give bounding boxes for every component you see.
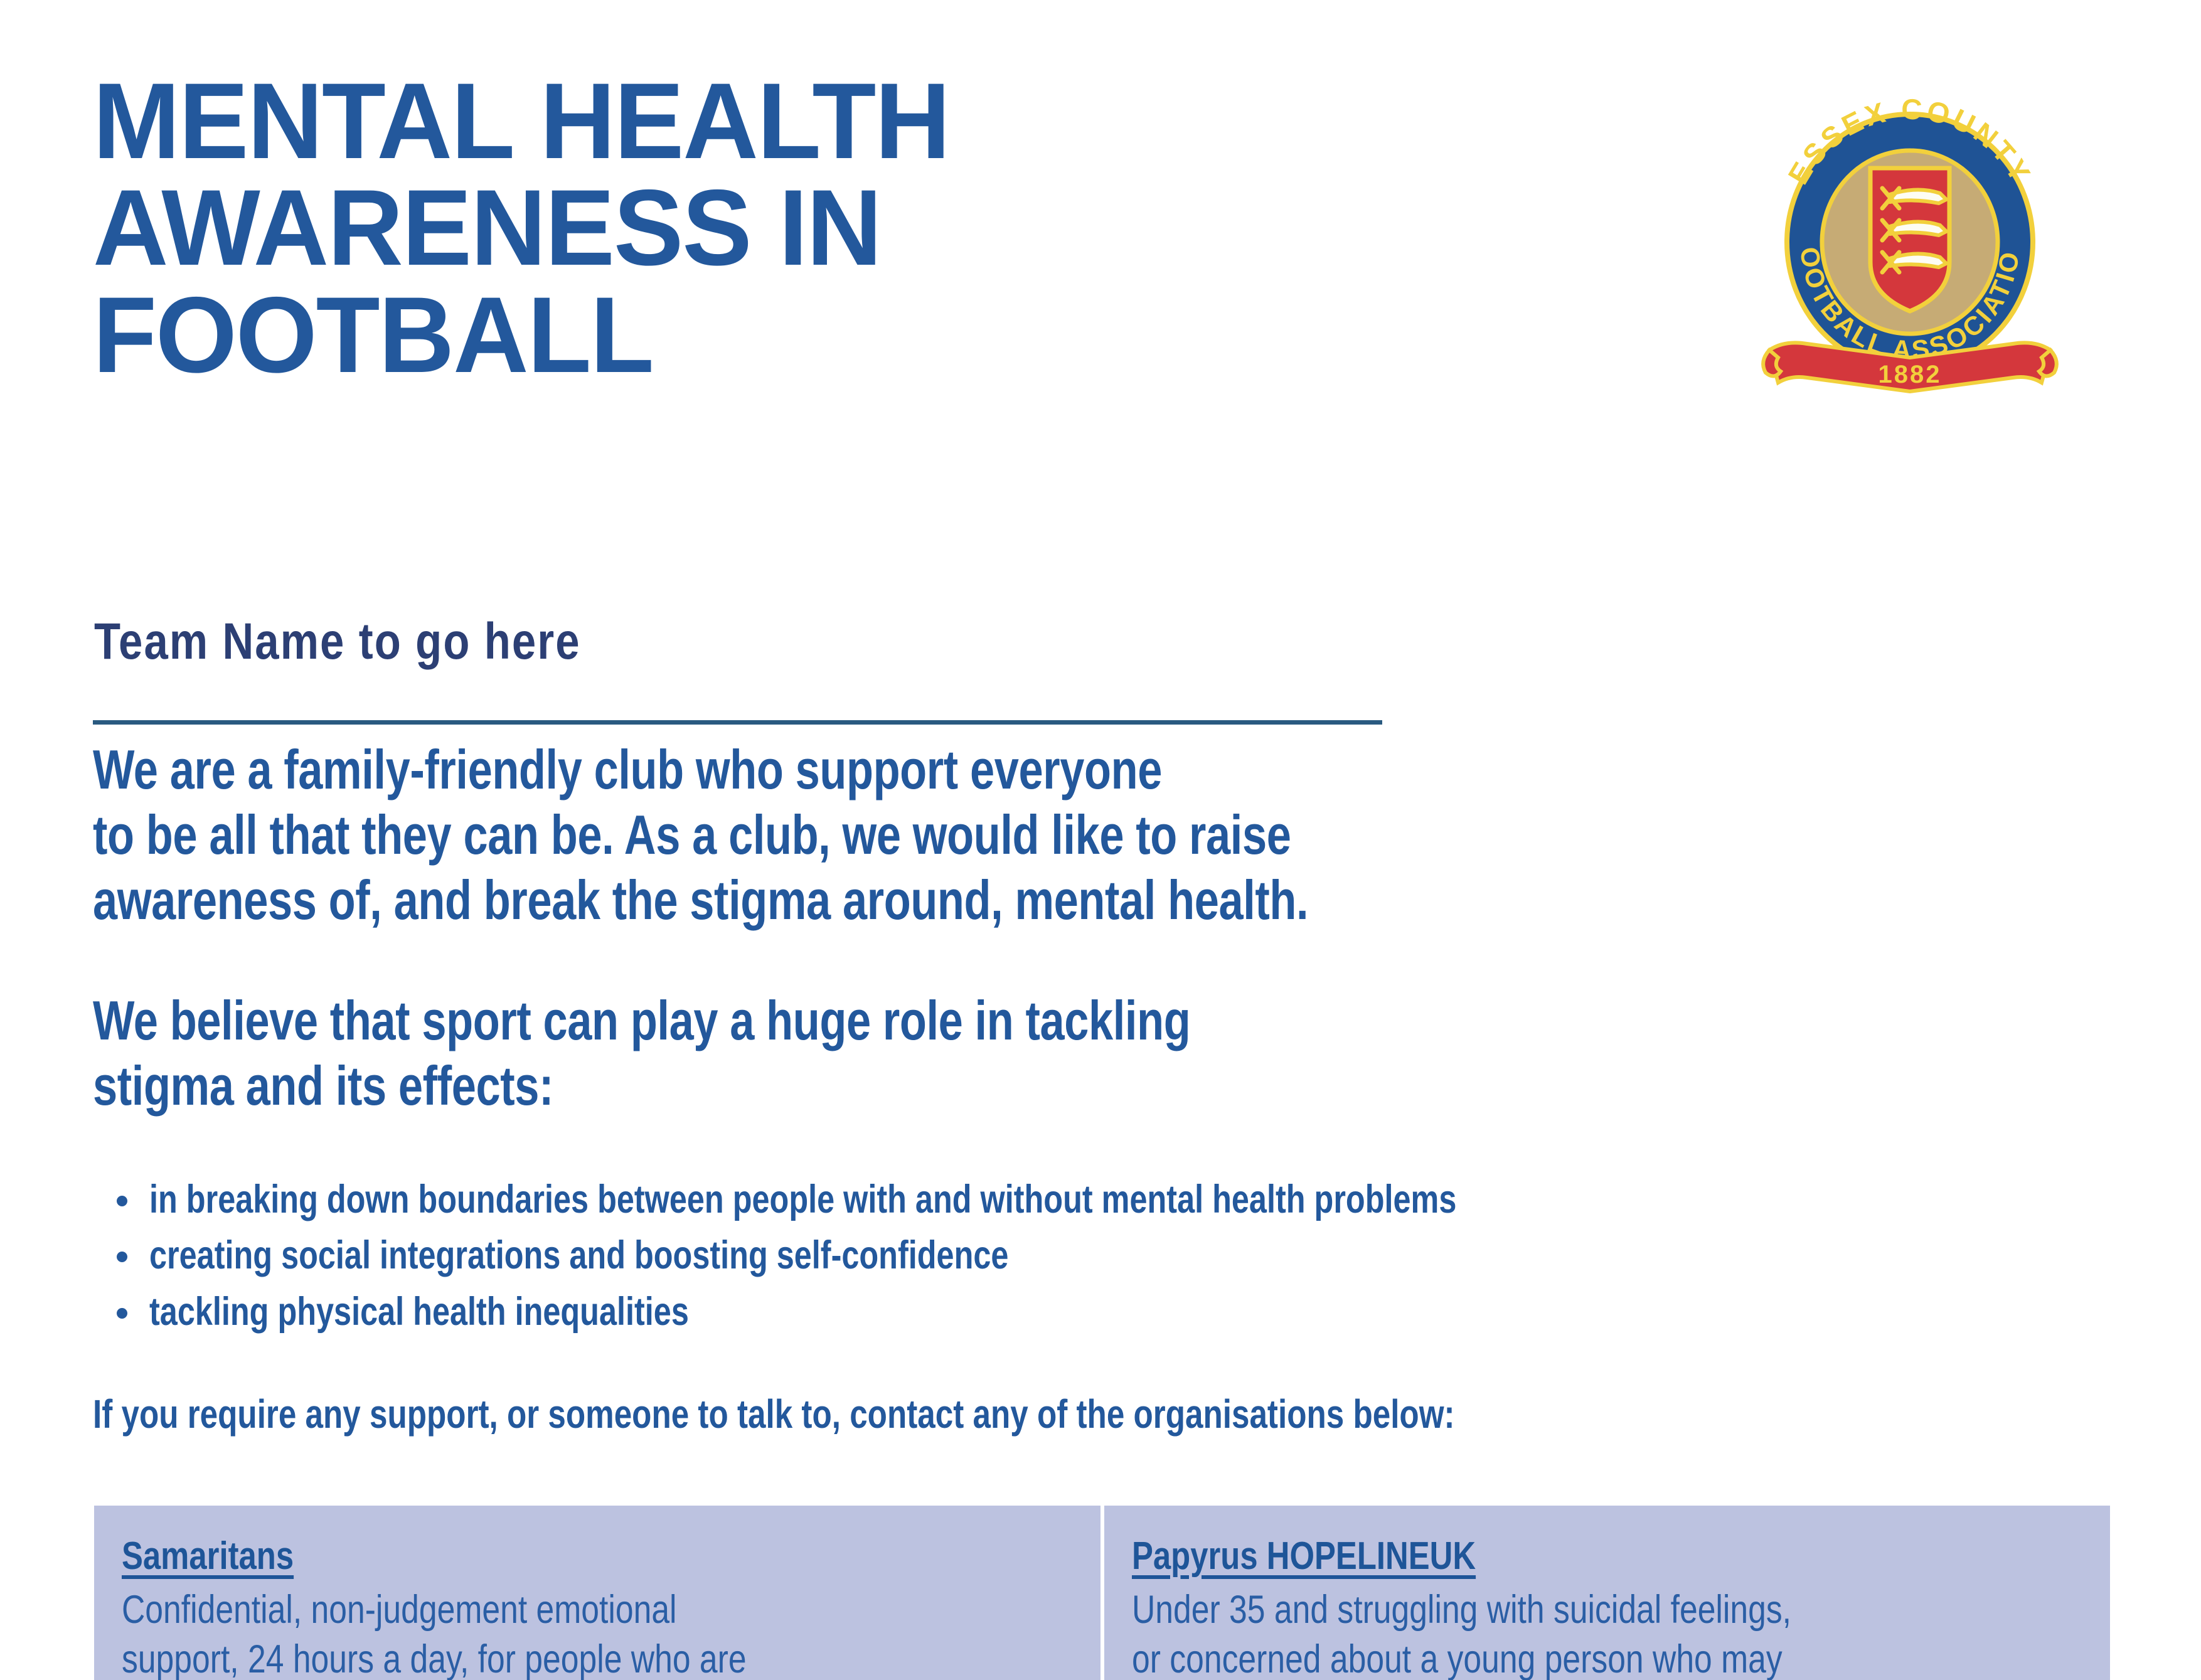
benefits-bullet-list: in breaking down boundaries between peop…	[100, 1172, 1783, 1340]
team-name-divider	[93, 720, 1382, 725]
belief-paragraph-line-1: We believe that sport can play a huge ro…	[93, 988, 1190, 1053]
support-panel-title-samaritans[interactable]: Samaritans	[122, 1536, 294, 1576]
poster-page: MENTAL HEALTH AWARENESS IN FOOTBALL ESSE…	[0, 0, 2201, 1680]
list-item: in breaking down boundaries between peop…	[100, 1172, 1783, 1228]
crest-year-text: 1882	[1879, 361, 1942, 388]
intro-paragraph-line-1: We are a family-friendly club who suppor…	[93, 737, 1308, 802]
essex-county-fa-crest-logo: ESSEX COUNTY FOOTBALL ASSOCIATION	[1747, 74, 2073, 413]
list-item: tackling physical health inequalities	[100, 1284, 1783, 1340]
list-item: creating social integrations and boostin…	[100, 1228, 1783, 1284]
support-panel-body-samaritans: Confidential, non-judgement emotional su…	[122, 1585, 1073, 1680]
support-panel-samaritans-line-2: support, 24 hours a day, for people who …	[122, 1635, 902, 1680]
support-panel-samaritans: Samaritans Confidential, non-judgement e…	[94, 1506, 1100, 1680]
intro-paragraph-line-3: awareness of, and break the stigma aroun…	[93, 868, 1308, 933]
team-name-placeholder[interactable]: Team Name to go here	[94, 616, 581, 667]
page-title-line-2: AWARENESS IN	[93, 174, 1341, 281]
intro-paragraph: We are a family-friendly club who suppor…	[93, 737, 1612, 932]
bullet-text-1: in breaking down boundaries between peop…	[149, 1172, 1456, 1228]
page-title: MENTAL HEALTH AWARENESS IN FOOTBALL	[93, 68, 1379, 388]
support-panel-papyrus: Papyrus HOPELINEUK Under 35 and struggli…	[1104, 1506, 2111, 1680]
support-panel-papyrus-line-2: or concerned about a young person who ma…	[1132, 1635, 1912, 1680]
belief-paragraph: We believe that sport can play a huge ro…	[93, 988, 1465, 1119]
support-panel-title-papyrus[interactable]: Papyrus HOPELINEUK	[1132, 1536, 1476, 1576]
page-title-line-1: MENTAL HEALTH	[93, 68, 1341, 174]
support-organisations-panels: Samaritans Confidential, non-judgement e…	[94, 1506, 2110, 1680]
bullet-text-3: tackling physical health inequalities	[149, 1284, 689, 1340]
support-panel-body-papyrus: Under 35 and struggling with suicidal fe…	[1132, 1585, 2083, 1680]
support-panel-samaritans-line-1: Confidential, non-judgement emotional	[122, 1585, 902, 1635]
contact-intro-text: If you require any support, or someone t…	[93, 1390, 1455, 1438]
bullet-text-2: creating social integrations and boostin…	[149, 1228, 1008, 1284]
belief-paragraph-line-2: stigma and its effects:	[93, 1053, 1190, 1119]
page-title-line-3: FOOTBALL	[93, 282, 1341, 388]
intro-paragraph-line-2: to be all that they can be. As a club, w…	[93, 802, 1308, 868]
support-panel-papyrus-line-1: Under 35 and struggling with suicidal fe…	[1132, 1585, 1912, 1635]
